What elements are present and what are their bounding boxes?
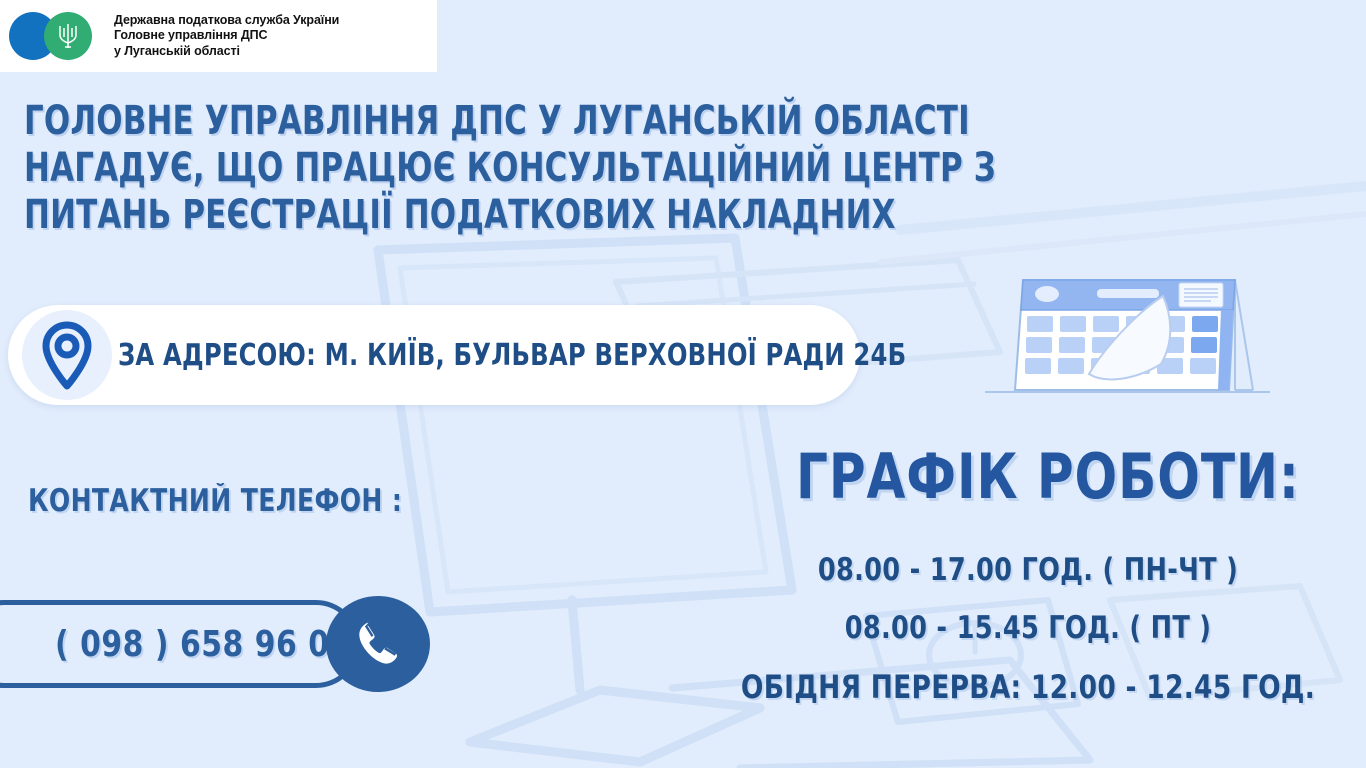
logo-marks [6,6,114,66]
trident-icon [44,12,92,60]
map-pin-icon [22,310,112,400]
logo-line-1: Державна податкова служба України [114,13,339,28]
phone-handset-icon[interactable] [326,596,430,692]
page-title: ГОЛОВНЕ УПРАВЛІННЯ ДПС У ЛУГАНСЬКІЙ ОБЛА… [24,98,1056,240]
logo-text: Державна податкова служба України Головн… [114,13,339,59]
address-text: ЗА АДРЕСОЮ: М. КИЇВ, БУЛЬВАР ВЕРХОВНОЇ Р… [118,338,906,373]
address-pill: ЗА АДРЕСОЮ: М. КИЇВ, БУЛЬВАР ВЕРХОВНОЇ Р… [8,305,860,405]
phone-number: ( 098 ) 658 96 08 [55,624,351,665]
schedule-title: ГРАФІК РОБОТИ: [796,440,1300,513]
schedule-line-3: ОБІДНЯ ПЕРЕРВА: 12.00 - 12.45 ГОД. [734,668,1323,706]
schedule-line-2: 08.00 - 15.45 ГОД. ( ПТ ) [734,610,1323,646]
logo-line-2: Головне управління ДПС [114,28,339,43]
schedule-lines: 08.00 - 17.00 ГОД. ( ПН-ЧТ ) 08.00 - 15.… [708,552,1348,706]
logo-line-3: у Луганській області [114,44,339,59]
logo-plate: Державна податкова служба України Головн… [0,0,437,72]
phone-pill[interactable]: ( 098 ) 658 96 08 [0,600,360,688]
phone-label: КОНТАКТНИЙ ТЕЛЕФОН : [28,483,402,519]
schedule-line-1: 08.00 - 17.00 ГОД. ( ПН-ЧТ ) [734,552,1323,588]
desk-calendar-icon [985,262,1270,397]
poster: Державна податкова служба України Головн… [0,0,1366,768]
